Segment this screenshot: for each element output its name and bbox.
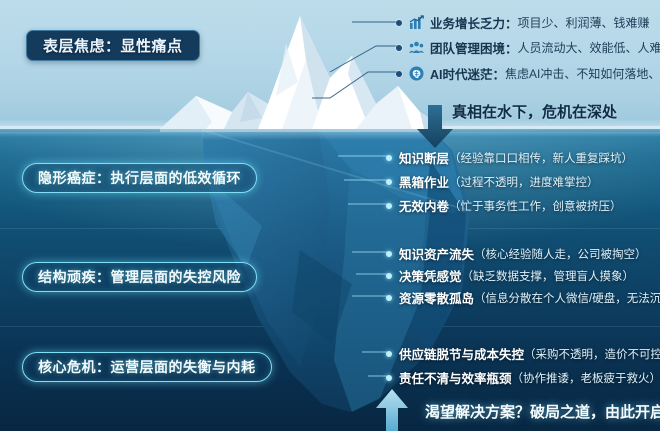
badge-layer-3-label: 核心危机：运营层面的失衡与内耗 [38,357,256,377]
layer-2-item-2-sub: （信息分散在个人微信/硬盘，无法沉淀） [474,290,660,306]
bullet-dot-icon [386,375,392,381]
layer-1-item-0-sub: （经验靠口口相传，新人重复踩坑） [449,150,633,166]
down-arrow-icon [415,105,455,149]
layer-1-item-1-sub: （过程不透明，进度难掌控） [449,174,599,190]
bullet-dot-icon [386,203,392,209]
surface-item-1-head: 团队管理困境： [430,38,518,57]
layer-2-item-0[interactable]: 知识资产流失 （核心经验随人走，公司被掏空） [386,244,647,263]
layer-2-item-1-sub: （缺乏数据支撑，管理盲人摸象） [462,268,635,284]
layer-3-item-1-sub: （协作推诿，老板疲于救火） [512,370,660,386]
badge-layer-1-label: 隐形癌症：执行层面的低效循环 [38,168,241,188]
iceberg-infographic: 表层焦虑：显性痛点 隐形癌症：执行层面的低效循环 结构顽疾：管理层面的失控风险 … [0,0,660,431]
layer-1-item-0-head: 知识断层 [399,148,449,167]
surface-item-2[interactable]: AI时代迷茫： 焦虑AI冲击、不知如何落地、产生价值 [396,64,660,83]
badge-surface-anxiety-label: 表层焦虑：显性痛点 [43,35,183,56]
team-people-icon [409,40,424,55]
surface-item-0-sub: 项目少、利润薄、钱难赚 [518,14,650,31]
layer-3-item-1-head: 责任不清与效率瓶颈 [399,368,512,387]
layer-1-item-1-head: 黑箱作业 [399,172,449,191]
badge-layer-1[interactable]: 隐形癌症：执行层面的低效循环 [22,163,257,193]
bullet-dot-icon [386,251,392,257]
bullet-dot-icon [386,155,392,161]
layer-3-item-1[interactable]: 责任不清与效率瓶颈 （协作推诿，老板疲于救火） [386,368,660,387]
bullet-dot-icon [386,179,392,185]
surface-item-1-sub: 人员流动大、效能低、人难管 [518,39,660,56]
bullet-dot-icon [386,351,392,357]
surface-item-1[interactable]: 团队管理困境： 人员流动大、效能低、人难管 [396,38,660,57]
layer-2-item-2-head: 资源零散孤岛 [399,288,474,307]
layer-2-item-0-head: 知识资产流失 [399,244,474,263]
layer-3-item-0[interactable]: 供应链脱节与成本失控 （采购不透明，造价不可控） [386,344,660,363]
layer-2-item-1-head: 决策凭感觉 [399,266,462,285]
bullet-dot-icon [396,45,402,51]
surface-item-2-head: AI时代迷茫： [430,64,505,83]
surface-item-0-head: 业务增长乏力： [430,13,518,32]
badge-layer-2[interactable]: 结构顽疾：管理层面的失控风险 [22,262,257,292]
badge-layer-2-label: 结构顽疾：管理层面的失控风险 [38,267,241,287]
layer-1-item-2-sub: （忙于事务性工作，创意被挤压） [449,198,622,214]
layer-1-item-2-head: 无效内卷 [399,196,449,215]
surface-item-0[interactable]: 业务增长乏力： 项目少、利润薄、钱难赚 [396,13,650,32]
footline-call-to-action: 渴望解决方案？破局之道，由此开启。 [425,401,660,422]
layer-2-item-1[interactable]: 决策凭感觉 （缺乏数据支撑，管理盲人摸象） [386,266,634,285]
growth-chart-icon [409,15,424,30]
surface-item-2-sub: 焦虑AI冲击、不知如何落地、产生价值 [505,65,660,82]
layer-1-item-1[interactable]: 黑箱作业 （过程不透明，进度难掌控） [386,172,599,191]
headline-truth-underwater: 真相在水下，危机在深处 [452,101,617,122]
layer-2-item-0-sub: （核心经验随人走，公司被掏空） [474,246,647,262]
layer-1-item-2[interactable]: 无效内卷 （忙于事务性工作，创意被挤压） [386,196,622,215]
badge-surface-anxiety[interactable]: 表层焦虑：显性痛点 [26,30,200,61]
bullet-dot-icon [386,295,392,301]
bullet-dot-icon [396,71,402,77]
layer-3-item-0-head: 供应链脱节与成本失控 [399,344,524,363]
up-arrow-icon [375,389,409,431]
ai-brain-icon [409,66,424,81]
layer-3-item-0-sub: （采购不透明，造价不可控） [524,346,660,362]
badge-layer-3[interactable]: 核心危机：运营层面的失衡与内耗 [22,352,272,382]
bullet-dot-icon [396,20,402,26]
layer-1-item-0[interactable]: 知识断层 （经验靠口口相传，新人重复踩坑） [386,148,633,167]
bullet-dot-icon [386,273,392,279]
layer-2-item-2[interactable]: 资源零散孤岛 （信息分散在个人微信/硬盘，无法沉淀） [386,288,660,307]
